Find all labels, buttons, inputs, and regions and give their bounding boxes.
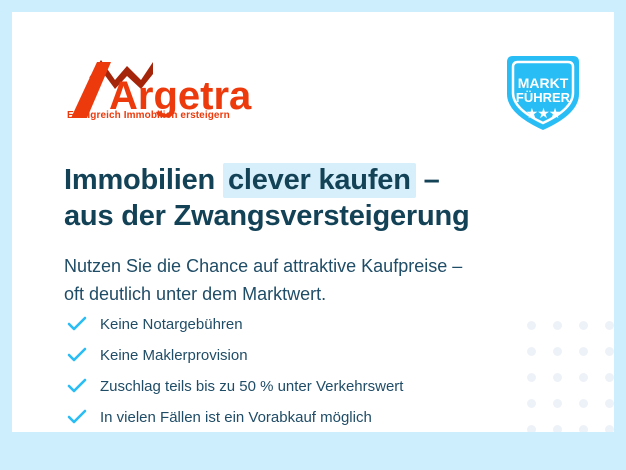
check-icon [66, 375, 88, 397]
list-item: Keine Maklerprovision [66, 340, 506, 370]
page-title: Immobilien clever kaufen –aus der Zwangs… [64, 162, 534, 234]
decor-dot [579, 399, 588, 408]
check-icon [66, 406, 88, 428]
argetra-logo[interactable]: Argetra Erfolgreich Immobilien ersteiger… [67, 56, 267, 122]
badge-line2: FÜHRER [516, 90, 571, 105]
decor-dot [579, 347, 588, 356]
decor-dot [605, 425, 614, 433]
decor-dot [527, 373, 536, 382]
decor-dot [553, 321, 562, 330]
subheadline: Nutzen Sie die Chance auf attraktive Kau… [64, 252, 544, 308]
benefit-label: Keine Notargebühren [100, 316, 243, 333]
decor-dot [579, 321, 588, 330]
list-item: Zuschlag teils bis zu 50 % unter Verkehr… [66, 371, 506, 401]
decor-dot [553, 399, 562, 408]
promo-banner: Argetra Erfolgreich Immobilien ersteiger… [0, 0, 626, 470]
headline-part1: Immobilien [64, 164, 223, 196]
decor-dot [527, 321, 536, 330]
benefit-label: Keine Maklerprovision [100, 347, 248, 364]
subheadline-line2: oft deutlich unter dem Marktwert. [64, 280, 544, 308]
subheadline-line1: Nutzen Sie die Chance auf attraktive Kau… [64, 256, 462, 276]
badge-shield-svg: MARKT FÜHRER ★★★ [501, 50, 585, 134]
decor-dot [605, 347, 614, 356]
check-icon [66, 313, 88, 335]
benefit-label: Zuschlag teils bis zu 50 % unter Verkehr… [100, 378, 403, 395]
badge-stars: ★★★ [526, 106, 561, 122]
check-icon [66, 344, 88, 366]
badge-line1: MARKT [518, 75, 569, 91]
headline-part2: – [416, 164, 440, 196]
benefit-label: In vielen Fällen ist ein Vorabkauf mögli… [100, 409, 372, 426]
decor-dot [553, 347, 562, 356]
decor-dot [553, 373, 562, 382]
banner-card: Argetra Erfolgreich Immobilien ersteiger… [12, 12, 614, 432]
decor-dot [605, 373, 614, 382]
list-item: Keine Notargebühren [66, 309, 506, 339]
decor-dot [605, 321, 614, 330]
list-item: In vielen Fällen ist ein Vorabkauf mögli… [66, 402, 506, 432]
argetra-tagline: Erfolgreich Immobilien ersteigern [67, 110, 230, 121]
decor-dot [605, 399, 614, 408]
headline-highlight: clever kaufen [223, 163, 416, 198]
decor-dot [553, 425, 562, 433]
decorative-dot-grid [518, 312, 614, 432]
decor-dot [579, 373, 588, 382]
benefit-list: Keine Notargebühren Keine Maklerprovisio… [66, 309, 506, 432]
headline-line2: aus der Zwangsversteigerung [64, 198, 534, 234]
decor-dot [527, 399, 536, 408]
markt-fuehrer-badge: MARKT FÜHRER ★★★ [501, 50, 585, 134]
decor-dot [579, 425, 588, 433]
decor-dot [527, 347, 536, 356]
decor-dot [527, 425, 536, 433]
